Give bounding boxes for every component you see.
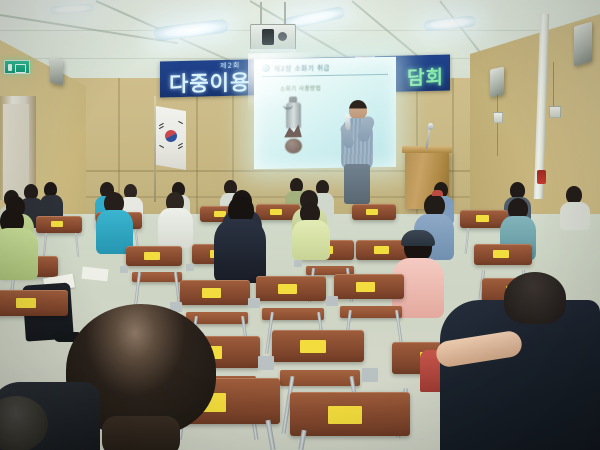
attendee-torso bbox=[292, 220, 330, 260]
banner-left-text: 다중이용 bbox=[169, 66, 250, 97]
chair-back bbox=[180, 280, 250, 305]
wall-outlet-right bbox=[549, 106, 561, 118]
photo-scene: 제2회 다중이용 담회 제2장 소화기 취급 소화기 사용방법 bbox=[0, 0, 600, 450]
chair-back bbox=[256, 276, 326, 301]
chair-back-front-right bbox=[290, 392, 410, 436]
screen-glare bbox=[248, 52, 318, 113]
ceiling-projector bbox=[250, 24, 294, 54]
wall-speaker-left bbox=[50, 56, 63, 85]
wall-speaker-right-lower bbox=[490, 67, 504, 98]
attendee-head bbox=[504, 272, 566, 324]
banner-right-text: 담회 bbox=[407, 63, 444, 91]
speaker-cable bbox=[497, 94, 498, 156]
chair-tag bbox=[278, 284, 297, 294]
chair-back bbox=[272, 330, 364, 362]
chair-hinge bbox=[258, 356, 274, 370]
exit-sign bbox=[4, 60, 30, 74]
speaker-cable-2 bbox=[553, 62, 554, 110]
chair-tag bbox=[16, 298, 36, 308]
attendee-neck bbox=[102, 416, 180, 450]
chair-back bbox=[334, 274, 404, 299]
chair-tag bbox=[300, 340, 326, 353]
chair-tag bbox=[328, 406, 362, 424]
chair-tag bbox=[356, 282, 375, 292]
chair-hinge bbox=[248, 298, 260, 308]
attendee-visor bbox=[401, 230, 435, 246]
slide-graphic-circle bbox=[285, 138, 302, 153]
chair-hinge bbox=[326, 296, 338, 306]
chair-back bbox=[0, 290, 68, 316]
chair-hinge bbox=[362, 368, 378, 382]
wall-speaker-right-upper bbox=[574, 21, 592, 66]
attendee-cap bbox=[432, 190, 443, 196]
wall-switch-right bbox=[493, 112, 503, 123]
podium-mic-head bbox=[428, 123, 433, 130]
chair-tag bbox=[202, 288, 221, 298]
